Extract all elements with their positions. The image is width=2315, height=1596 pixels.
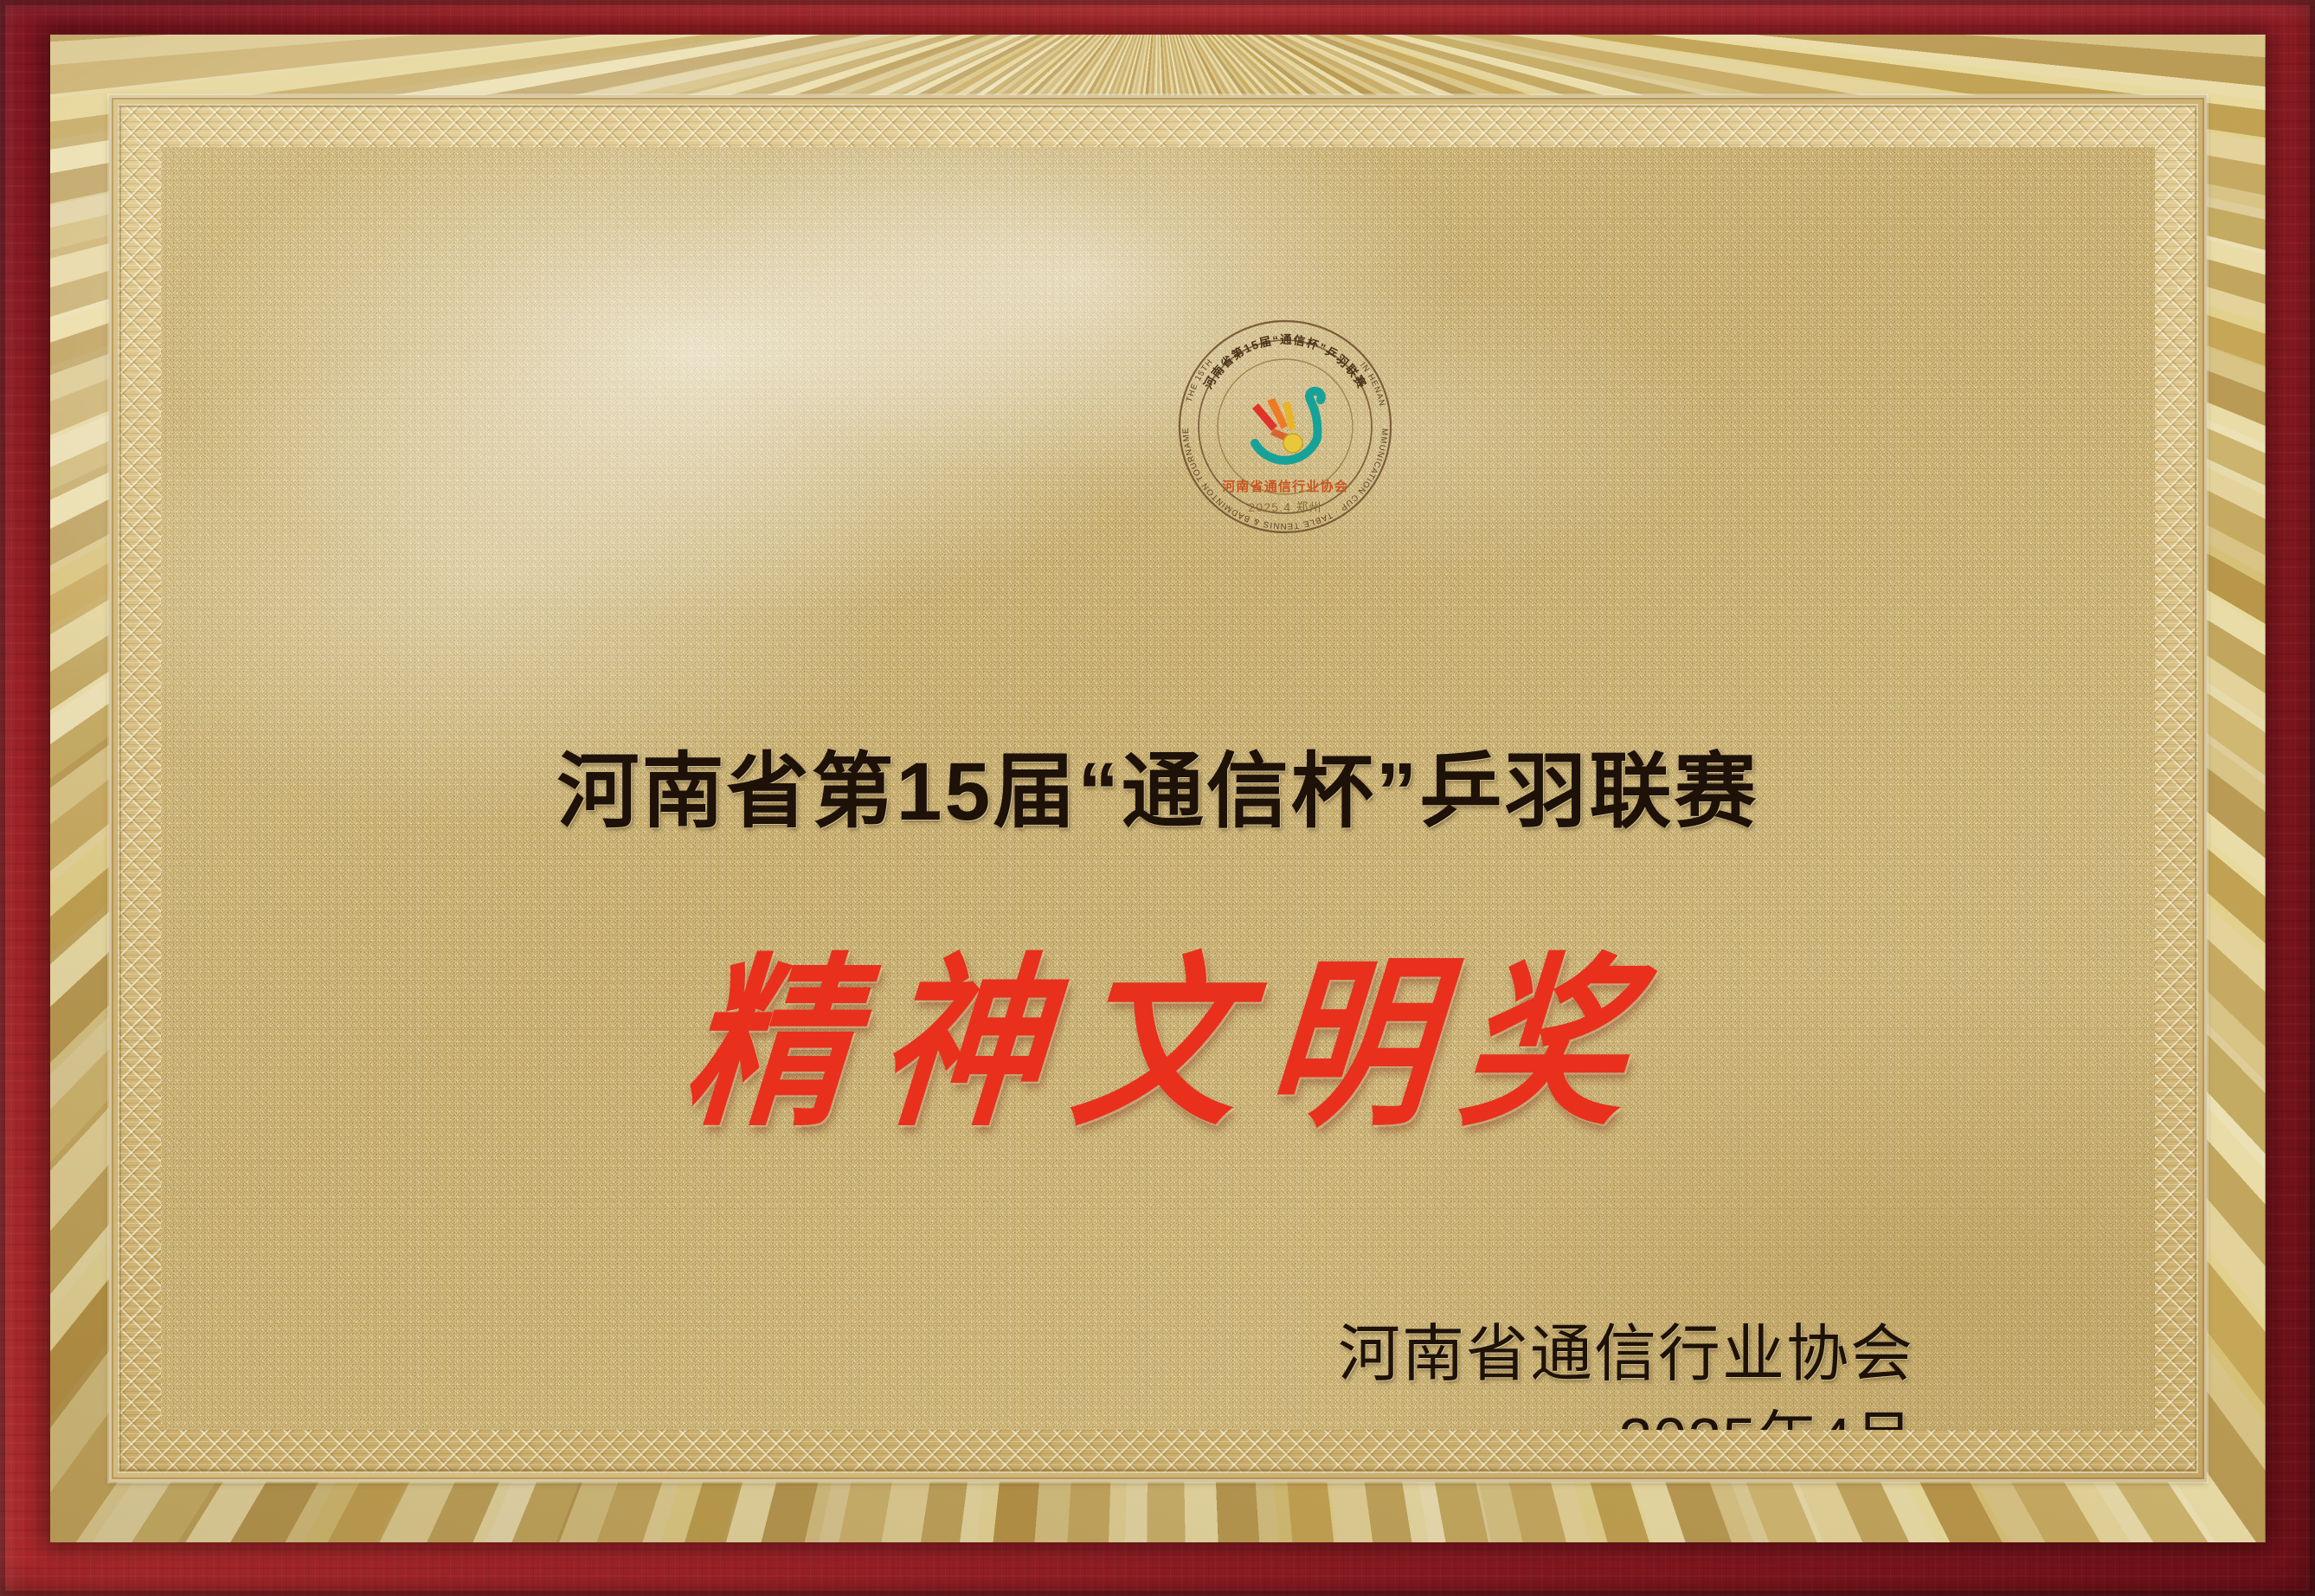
emblem-inner-ring-text: 河南省第15届“通信杯”乒羽联赛 bbox=[1201, 332, 1370, 391]
emblem-date-place-text: 2025.4 郑州 bbox=[1248, 500, 1322, 514]
award-name: 精神文明奖 bbox=[161, 895, 2155, 1162]
inner-gold-field: COMMUNICATION CUP · TABLE TENNIS & BADMI… bbox=[161, 147, 2155, 1430]
gold-panel: COMMUNICATION CUP · TABLE TENNIS & BADMI… bbox=[50, 35, 2266, 1542]
award-plaque: COMMUNICATION CUP · TABLE TENNIS & BADMI… bbox=[0, 0, 2315, 1596]
emblem-org-text: 河南省通信行业协会 bbox=[1222, 479, 1348, 494]
tournament-title: 河南省第15届“通信杯”乒羽联赛 bbox=[161, 725, 2155, 844]
issuing-organization: 河南省通信行业协会 bbox=[1338, 1316, 1914, 1393]
signature-block: 河南省通信行业协会 2025年4月 bbox=[1338, 1316, 1914, 1430]
issue-date: 2025年4月 bbox=[1338, 1400, 1914, 1430]
tournament-emblem: COMMUNICATION CUP · TABLE TENNIS & BADMI… bbox=[1172, 313, 1399, 540]
